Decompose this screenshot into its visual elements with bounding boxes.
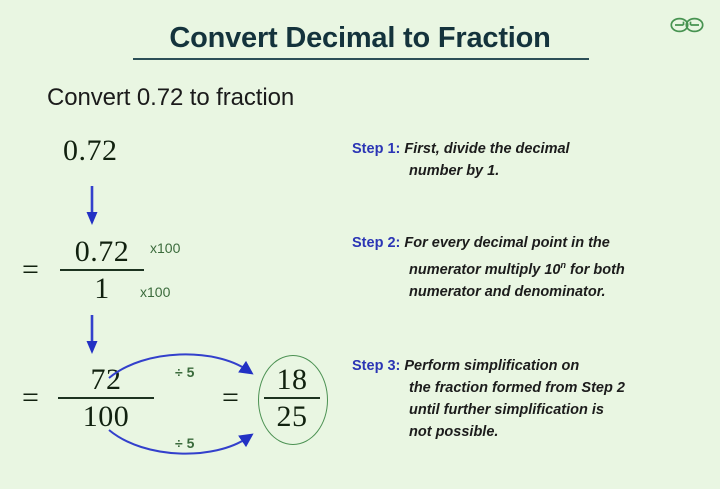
- divide-label-top: ÷ 5: [175, 364, 194, 380]
- fraction-result-numerator: 18: [264, 364, 320, 396]
- down-arrow-2: [85, 315, 99, 355]
- start-value: 0.72: [63, 134, 118, 168]
- geeksforgeeks-logo: [668, 10, 706, 40]
- step-item-2: Step 2: For every decimal point in the n…: [352, 232, 702, 303]
- step-3-line-4: not possible.: [352, 421, 702, 443]
- equals-sign-1: =: [22, 253, 39, 287]
- divide-label-bottom: ÷ 5: [175, 435, 194, 451]
- fraction-result-denominator: 25: [264, 401, 320, 433]
- equals-sign-2: =: [22, 381, 39, 415]
- title-underline: [133, 58, 589, 60]
- fraction-step1: 0.72 1: [60, 236, 144, 305]
- fraction-step1-numerator: 0.72: [60, 236, 144, 268]
- step-2-line-2: numerator multiply 10n for both: [352, 254, 702, 281]
- exponent-n: n: [560, 260, 566, 270]
- step-3-label: Step 3:: [352, 358, 400, 374]
- step-3-line-2: the fraction formed from Step 2: [352, 377, 702, 399]
- step-2-line-3: numerator and denominator.: [352, 281, 702, 303]
- step-3-line-3: until further simplification is: [352, 399, 702, 421]
- fraction-step1-bar: [60, 269, 144, 271]
- equals-sign-3: =: [222, 381, 239, 415]
- page-title: Convert Decimal to Fraction: [0, 22, 720, 55]
- down-arrow-1: [85, 186, 99, 226]
- fraction-result: 18 25: [264, 364, 320, 433]
- slide-canvas: Convert Decimal to Fraction Convert 0.72…: [0, 0, 720, 489]
- step-3-line-1: Perform simplification on: [404, 358, 579, 374]
- fraction-result-bar: [264, 397, 320, 399]
- step-2-label: Step 2:: [352, 235, 400, 251]
- multiplier-denominator-label: x100: [140, 284, 170, 300]
- step-1-line-1: First, divide the decimal: [404, 141, 569, 157]
- step-item-3: Step 3: Perform simplification on the fr…: [352, 355, 702, 443]
- step-1-label: Step 1:: [352, 141, 400, 157]
- multiplier-numerator-label: x100: [150, 240, 180, 256]
- step-item-1: Step 1: First, divide the decimal number…: [352, 138, 702, 182]
- fraction-step1-denominator: 1: [60, 273, 144, 305]
- step-2-line-1: For every decimal point in the: [404, 235, 609, 251]
- step-1-line-2: number by 1.: [352, 160, 702, 182]
- subtitle: Convert 0.72 to fraction: [47, 84, 294, 112]
